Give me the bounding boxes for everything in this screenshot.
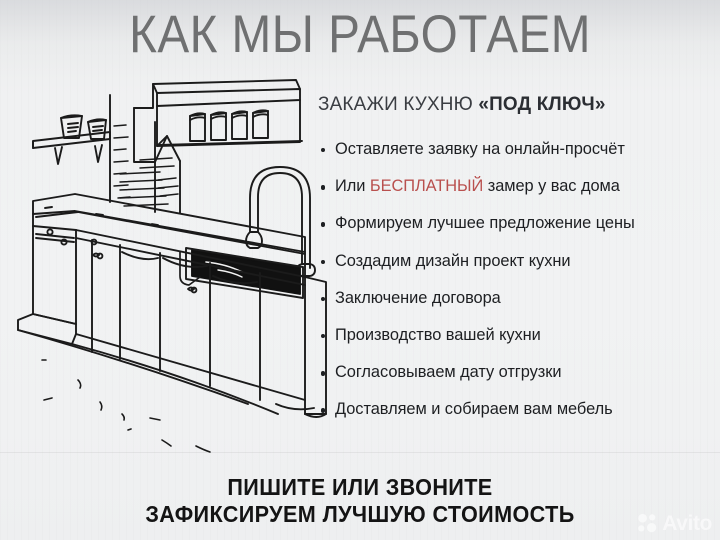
offer-column: ЗАКАЖИ КУХНЮ «ПОД КЛЮЧ» Оставляете заявк… [318, 92, 716, 438]
offer-subtitle-plain: ЗАКАЖИ КУХНЮ [318, 93, 478, 115]
left-shelf [33, 132, 110, 164]
list-item: Заключение договора [318, 289, 716, 308]
footer-line-2: ЗАФИКСИРУЕМ ЛУЧШУЮ СТОИМОСТЬ [22, 501, 699, 528]
step-text-before: Оставляете заявку на онлайн-просчёт [335, 140, 625, 158]
list-item: Оставляете заявку на онлайн-просчёт [318, 140, 716, 159]
footer-line-1: ПИШИТЕ ИЛИ ЗВОНИТЕ [22, 474, 699, 501]
poster-canvas: КАК МЫ РАБОТАЕМ [0, 0, 720, 540]
offer-subtitle-strong: «ПОД КЛЮЧ» [478, 93, 605, 115]
list-item: Формируем лучшее предложение цены [318, 214, 716, 233]
footer-callout: ПИШИТЕ ИЛИ ЗВОНИТЕ ЗАФИКСИРУЕМ ЛУЧШУЮ СТ… [0, 474, 720, 528]
shelf-jars [190, 110, 268, 141]
step-text-highlight: БЕСПЛАТНЫЙ [370, 177, 483, 195]
upper-shelf [153, 80, 302, 146]
kitchen-illustration [0, 62, 340, 454]
step-text-after: замер у вас дома [483, 177, 620, 195]
step-text-before: Создадим дизайн проект кухни [335, 252, 570, 270]
steps-list: Оставляете заявку на онлайн-просчёт Или … [318, 140, 716, 419]
page-title: КАК МЫ РАБОТАЕМ [36, 4, 684, 66]
list-item: Создадим дизайн проект кухни [318, 252, 716, 271]
list-item: Или БЕСПЛАТНЫЙ замер у вас дома [318, 177, 716, 196]
list-item: Доставляем и собираем вам мебель [318, 400, 716, 419]
floor-speckles [42, 360, 210, 452]
floor [18, 314, 314, 414]
step-text-before: Заключение договора [335, 289, 501, 307]
step-text-before: Формируем лучшее предложение цены [335, 214, 635, 232]
divider [0, 452, 720, 453]
step-text-before: Производство вашей кухни [335, 326, 541, 344]
offer-subtitle: ЗАКАЖИ КУХНЮ «ПОД КЛЮЧ» [318, 92, 704, 116]
list-item: Согласовываем дату отгрузки [318, 363, 716, 382]
step-text-before: Доставляем и собираем вам мебель [335, 400, 613, 418]
step-text-before: Или [335, 177, 370, 195]
step-text-before: Согласовываем дату отгрузки [335, 363, 561, 381]
list-item: Производство вашей кухни [318, 326, 716, 345]
